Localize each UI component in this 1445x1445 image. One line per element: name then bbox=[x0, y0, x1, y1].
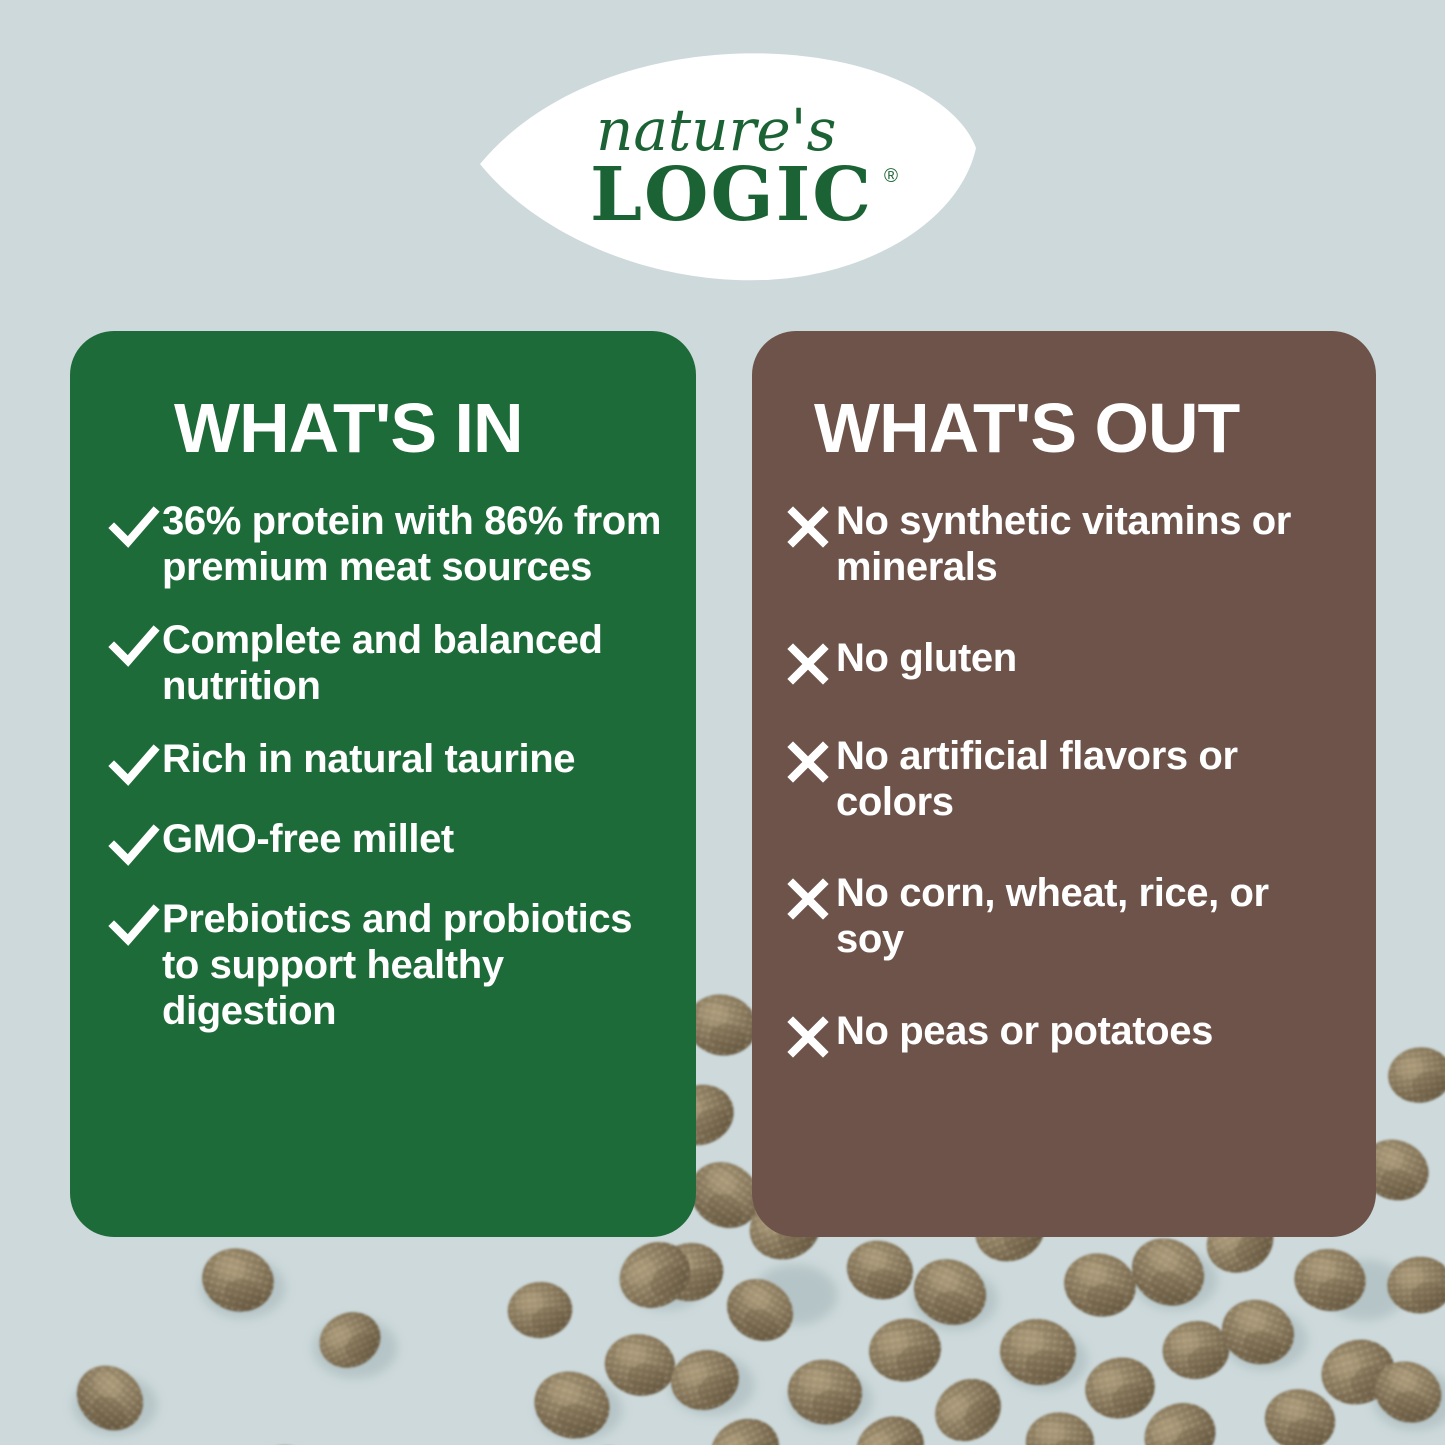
list-item-label: Prebiotics and probiotics to support hea… bbox=[162, 897, 662, 1034]
logo-word-text: LOGIC bbox=[590, 152, 873, 238]
list-item: Complete and balanced nutrition bbox=[108, 618, 674, 709]
whats-out-card: WHAT'S OUT No synthetic vitamins or mine… bbox=[752, 331, 1376, 1237]
check-icon bbox=[108, 624, 162, 670]
whats-out-title: WHAT'S OUT bbox=[814, 393, 1239, 463]
logo-registered-mark: ® bbox=[884, 166, 898, 187]
whats-in-card: WHAT'S IN 36% protein with 86% from prem… bbox=[70, 331, 696, 1237]
product-infographic: nature's LOGIC ® WHAT'S IN 36% protein w… bbox=[0, 0, 1445, 1445]
list-item: No gluten bbox=[782, 636, 1356, 688]
list-item-label: GMO-free millet bbox=[162, 817, 454, 863]
list-item: No artificial flavors or colors bbox=[782, 734, 1356, 825]
list-item-label: Complete and balanced nutrition bbox=[162, 618, 662, 709]
list-item: GMO-free millet bbox=[108, 817, 674, 869]
x-icon bbox=[782, 642, 836, 688]
brand-logo: nature's LOGIC ® bbox=[478, 52, 978, 284]
list-item: No corn, wheat, rice, or soy bbox=[782, 871, 1356, 962]
check-icon bbox=[108, 823, 162, 869]
x-icon bbox=[782, 1015, 836, 1061]
list-item-label: No artificial flavors or colors bbox=[836, 734, 1306, 825]
check-icon bbox=[108, 903, 162, 949]
leaf-logo-icon: nature's LOGIC ® bbox=[478, 52, 978, 284]
check-icon bbox=[108, 505, 162, 551]
x-icon bbox=[782, 505, 836, 551]
whats-in-title: WHAT'S IN bbox=[174, 393, 523, 463]
check-icon bbox=[108, 743, 162, 789]
list-item-label: 36% protein with 86% from premium meat s… bbox=[162, 499, 662, 590]
whats-out-list: No synthetic vitamins or minerals No glu… bbox=[752, 499, 1376, 1107]
list-item-label: Rich in natural taurine bbox=[162, 737, 575, 783]
x-icon bbox=[782, 877, 836, 923]
x-icon bbox=[782, 740, 836, 786]
list-item: Rich in natural taurine bbox=[108, 737, 674, 789]
list-item: No synthetic vitamins or minerals bbox=[782, 499, 1356, 590]
list-item: No peas or potatoes bbox=[782, 1009, 1356, 1061]
list-item-label: No peas or potatoes bbox=[836, 1009, 1213, 1055]
list-item: 36% protein with 86% from premium meat s… bbox=[108, 499, 674, 590]
list-item-label: No gluten bbox=[836, 636, 1017, 682]
whats-in-list: 36% protein with 86% from premium meat s… bbox=[70, 499, 696, 1062]
list-item-label: No corn, wheat, rice, or soy bbox=[836, 871, 1306, 962]
list-item-label: No synthetic vitamins or minerals bbox=[836, 499, 1306, 590]
list-item: Prebiotics and probiotics to support hea… bbox=[108, 897, 674, 1034]
